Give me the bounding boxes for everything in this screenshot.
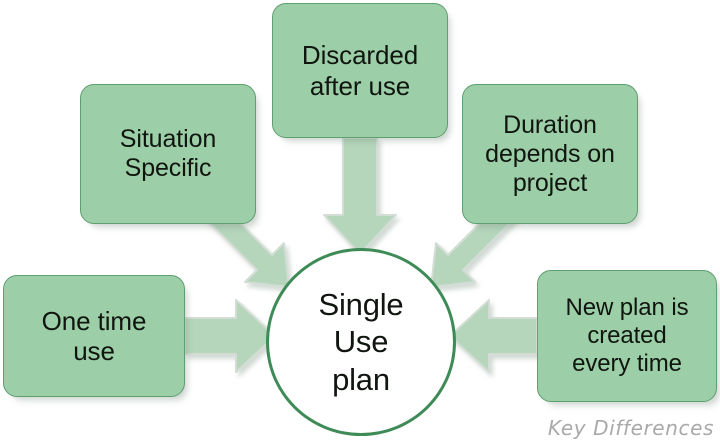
- center-node-label: SingleUseplan: [319, 286, 404, 398]
- node-discarded-after-use[interactable]: Discardedafter use: [272, 3, 448, 138]
- node-new-plan-is-created-every-time-label: New plan iscreatedevery time: [546, 294, 708, 377]
- node-one-time-use[interactable]: One timeuse: [3, 275, 185, 397]
- node-new-plan-is-created-every-time[interactable]: New plan iscreatedevery time: [537, 270, 717, 402]
- arrow-onetime-to-center: [185, 300, 275, 372]
- text-line: Discarded: [281, 40, 439, 70]
- watermark-key-differences: Key Differences: [548, 416, 714, 440]
- text-line: after use: [281, 71, 439, 101]
- node-duration-depends-on-project[interactable]: Durationdepends onproject: [462, 84, 638, 224]
- text-line: every time: [546, 350, 708, 378]
- text-line: plan: [319, 361, 404, 398]
- text-line: New plan is: [546, 294, 708, 322]
- text-line: use: [12, 336, 176, 366]
- center-node-single-use-plan[interactable]: SingleUseplan: [266, 248, 456, 436]
- node-duration-depends-on-project-label: Durationdepends onproject: [471, 111, 629, 198]
- node-one-time-use-label: One timeuse: [12, 306, 176, 366]
- text-line: One time: [12, 306, 176, 336]
- arrow-newplan-to-center: [450, 300, 537, 372]
- node-situation-specific-label: SituationSpecific: [89, 125, 247, 183]
- text-line: created: [546, 322, 708, 350]
- text-line: depends on: [471, 140, 629, 169]
- node-discarded-after-use-label: Discardedafter use: [281, 40, 439, 100]
- text-line: Situation: [89, 125, 247, 154]
- text-line: project: [471, 169, 629, 198]
- text-line: Duration: [471, 111, 629, 140]
- text-line: Use: [319, 323, 404, 360]
- node-situation-specific[interactable]: SituationSpecific: [80, 84, 256, 224]
- diagram-canvas: SituationSpecific Discardedafter use Dur…: [0, 0, 720, 445]
- text-line: Specific: [89, 154, 247, 183]
- text-line: Single: [319, 286, 404, 323]
- arrow-discarded-to-center: [324, 138, 396, 254]
